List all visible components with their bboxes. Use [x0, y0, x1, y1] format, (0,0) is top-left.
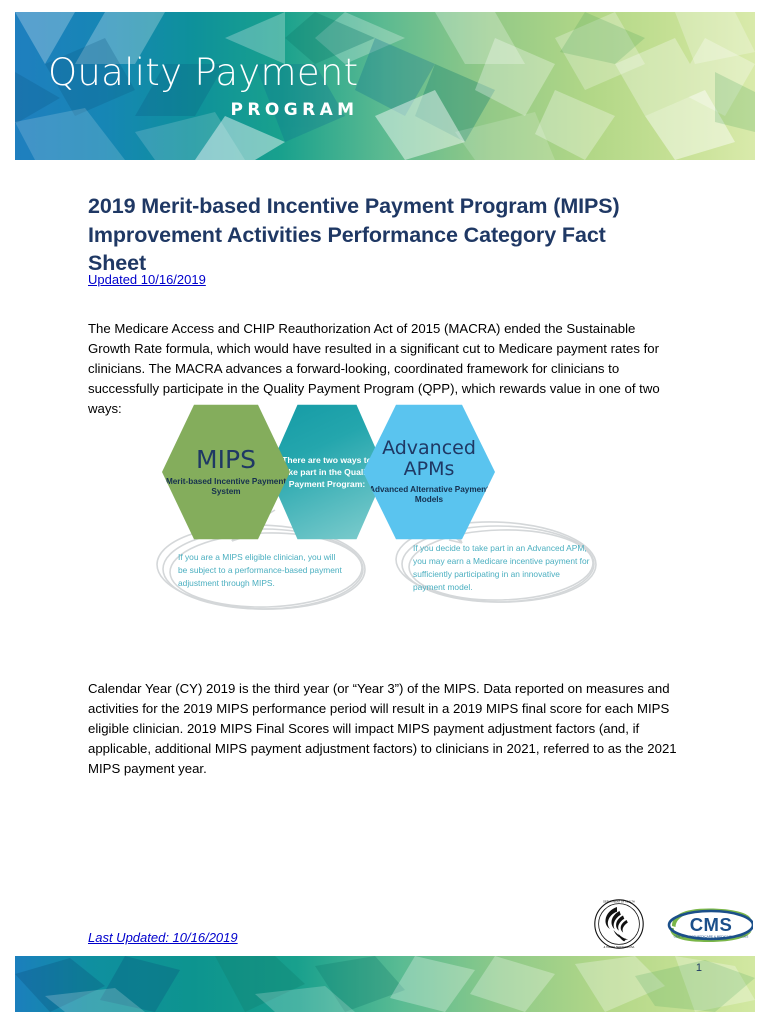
brand-subtitle: PROGRAM — [48, 100, 358, 120]
svg-text:DEPARTMENT OF HEALTH: DEPARTMENT OF HEALTH — [603, 901, 635, 904]
hexagon-mips-title: MIPS — [196, 447, 256, 472]
header-banner: Quality Payment PROGRAM — [15, 12, 755, 160]
page-title: 2019 Merit-based Incentive Payment Progr… — [88, 192, 658, 276]
calendar-year-paragraph: Calendar Year (CY) 2019 is the third yea… — [88, 679, 680, 779]
brand-lockup: Quality Payment PROGRAM — [48, 54, 358, 120]
svg-text:CENTERS FOR MEDICARE & MEDICAI: CENTERS FOR MEDICARE & MEDICAID SERVICES — [674, 935, 749, 939]
brand-title: Quality Payment — [48, 54, 358, 91]
svg-text:& HUMAN SERVICES USA: & HUMAN SERVICES USA — [604, 946, 635, 949]
agency-logos: DEPARTMENT OF HEALTH & HUMAN SERVICES US… — [593, 898, 753, 950]
page-number: 1 — [696, 962, 702, 974]
hhs-seal-icon: DEPARTMENT OF HEALTH & HUMAN SERVICES US… — [593, 898, 649, 950]
cms-logo-icon: CMS CENTERS FOR MEDICARE & MEDICAID SERV… — [665, 906, 753, 944]
footer-geometric-pattern — [15, 956, 755, 1012]
updated-date-link[interactable]: Updated 10/16/2019 — [88, 272, 206, 287]
qpp-participation-diagram: MIPS Merit-based Incentive Payment Syste… — [150, 392, 620, 627]
hexagon-apm-subtitle: Advanced Alternative Payment Models — [363, 485, 495, 506]
hexagon-apm-title: Advanced APMs — [363, 438, 495, 479]
hexagon-mips-subtitle: Merit-based Incentive Payment System — [162, 477, 290, 498]
callout-apm-text: If you decide to take part in an Advance… — [413, 542, 593, 594]
footer-banner — [15, 956, 755, 1012]
svg-text:CMS: CMS — [690, 914, 733, 935]
last-updated-link[interactable]: Last Updated: 10/16/2019 — [88, 930, 238, 945]
callout-mips-text: If you are a MIPS eligible clinician, yo… — [178, 551, 346, 590]
